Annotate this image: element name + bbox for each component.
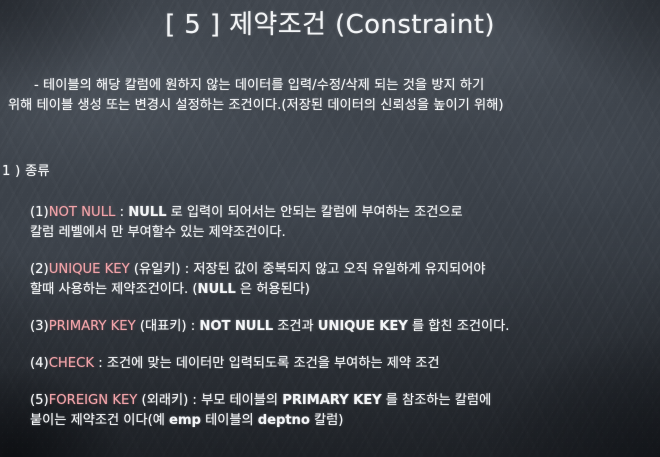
item-number: (2) bbox=[30, 262, 49, 277]
item-text: (외래키) : 부모 테이블의 bbox=[137, 393, 282, 408]
item-keyword: UNIQUE KEY bbox=[49, 262, 130, 277]
constraint-type-list: (1)NOT NULL : NULL 로 입력이 되어서는 안되는 칼럼에 부여… bbox=[30, 203, 660, 431]
section-heading: 1 ) 종류 bbox=[2, 160, 50, 179]
item-code-term: emp bbox=[169, 413, 201, 428]
item-line: (2)UNIQUE KEY (유일키) : 저장된 값이 중복되지 않고 오직 … bbox=[30, 260, 660, 280]
item-text: 테이블의 bbox=[201, 413, 258, 428]
item-keyword: CHECK bbox=[49, 356, 94, 371]
item-text: 붙이는 제약조건 이다(예 bbox=[30, 413, 169, 428]
chalkboard-slide: [ 5 ] 제약조건 (Constraint) - 테이블의 해당 칼럼에 원하… bbox=[0, 0, 660, 457]
item-text: 칼럼) bbox=[310, 413, 344, 428]
item-code-term: deptno bbox=[258, 413, 310, 428]
list-item: (2)UNIQUE KEY (유일키) : 저장된 값이 중복되지 않고 오직 … bbox=[30, 260, 660, 300]
item-text: (유일키) : 저장된 값이 중복되지 않고 오직 유일하게 유지되어야 bbox=[130, 262, 486, 277]
item-number: (3) bbox=[30, 319, 49, 334]
item-line: (5)FOREIGN KEY (외래키) : 부모 테이블의 PRIMARY K… bbox=[30, 391, 660, 411]
item-keyword: PRIMARY KEY bbox=[49, 319, 136, 334]
item-text: 은 허용된다) bbox=[236, 282, 310, 297]
item-text: 로 입력이 되어서는 안되는 칼럼에 부여하는 조건으로 bbox=[166, 205, 462, 220]
item-code-term: NOT NULL bbox=[199, 319, 273, 334]
item-text: 를 합친 조건이다. bbox=[408, 319, 510, 334]
slide-title: [ 5 ] 제약조건 (Constraint) bbox=[0, 4, 660, 41]
list-item: (4)CHECK : 조건에 맞는 데이터만 입력되도록 조건을 부여하는 제약… bbox=[30, 354, 660, 374]
item-text: (대표키) : bbox=[136, 319, 200, 334]
item-line: 할때 사용하는 제약조건이다. (NULL 은 허용된다) bbox=[30, 280, 660, 300]
intro-line-2: 위해 테이블 생성 또는 변경시 설정하는 조건이다.(저장된 데이터의 신뢰성… bbox=[8, 96, 660, 116]
intro-line-1: - 테이블의 해당 칼럼에 원하지 않는 데이터를 입력/수정/삭제 되는 것을… bbox=[8, 76, 660, 96]
item-line: 칼럼 레벨에서 만 부여할수 있는 제약조건이다. bbox=[30, 223, 660, 243]
item-text: 조건과 bbox=[273, 319, 318, 334]
item-line: 붙이는 제약조건 이다(예 emp 테이블의 deptno 칼럼) bbox=[30, 411, 660, 431]
item-line: (1)NOT NULL : NULL 로 입력이 되어서는 안되는 칼럼에 부여… bbox=[30, 203, 660, 223]
item-text: : bbox=[115, 205, 128, 220]
item-code-term: NULL bbox=[198, 282, 236, 297]
item-text: : 조건에 맞는 데이터만 입력되도록 조건을 부여하는 제약 조건 bbox=[94, 356, 439, 371]
list-item: (5)FOREIGN KEY (외래키) : 부모 테이블의 PRIMARY K… bbox=[30, 391, 660, 431]
item-code-term: UNIQUE KEY bbox=[318, 319, 408, 334]
intro-paragraph: - 테이블의 해당 칼럼에 원하지 않는 데이터를 입력/수정/삭제 되는 것을… bbox=[8, 76, 660, 116]
item-keyword: FOREIGN KEY bbox=[49, 393, 138, 408]
list-item: (3)PRIMARY KEY (대표키) : NOT NULL 조건과 UNIQ… bbox=[30, 317, 660, 337]
item-code-term: NULL bbox=[128, 205, 166, 220]
item-number: (1) bbox=[30, 205, 49, 220]
item-text: 를 참조하는 칼럼에 bbox=[382, 393, 492, 408]
item-line: (4)CHECK : 조건에 맞는 데이터만 입력되도록 조건을 부여하는 제약… bbox=[30, 354, 660, 374]
item-number: (4) bbox=[30, 356, 49, 371]
list-item: (1)NOT NULL : NULL 로 입력이 되어서는 안되는 칼럼에 부여… bbox=[30, 203, 660, 243]
item-keyword: NOT NULL bbox=[49, 205, 116, 220]
item-number: (5) bbox=[30, 393, 49, 408]
item-line: (3)PRIMARY KEY (대표키) : NOT NULL 조건과 UNIQ… bbox=[30, 317, 660, 337]
slide-content: [ 5 ] 제약조건 (Constraint) - 테이블의 해당 칼럼에 원하… bbox=[0, 0, 660, 457]
item-text: 할때 사용하는 제약조건이다. ( bbox=[30, 282, 198, 297]
item-code-term: PRIMARY KEY bbox=[282, 393, 381, 408]
